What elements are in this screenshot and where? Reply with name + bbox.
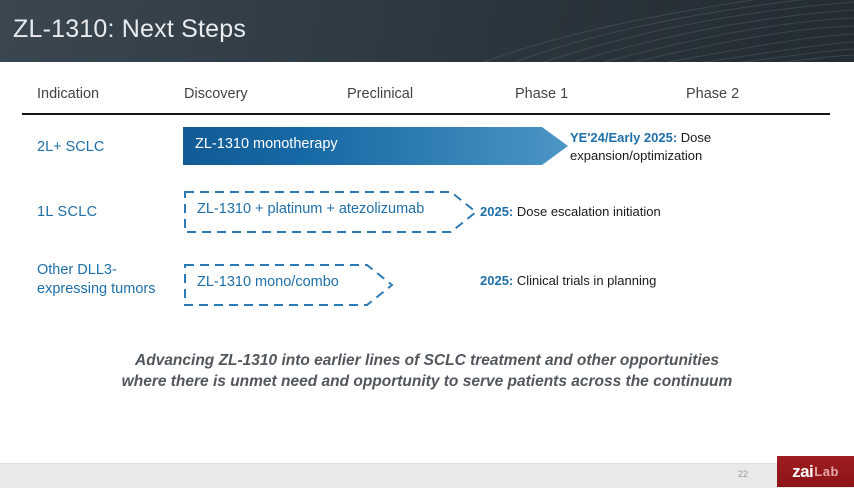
program-bar-label: ZL-1310 mono/combo bbox=[197, 274, 339, 290]
column-header-indication: Indication bbox=[37, 86, 99, 102]
header-decorative-arcs bbox=[424, 0, 854, 62]
column-header-discovery: Discovery bbox=[184, 86, 248, 102]
summary-statement: Advancing ZL-1310 into earlier lines of … bbox=[0, 350, 854, 392]
program-bar-label: ZL-1310 monotherapy bbox=[195, 136, 338, 152]
pipeline-row: 1L SCLC ZL-1310 + platinum + atezolizuma… bbox=[0, 188, 854, 244]
row-milestone: 2025: Clinical trials in planning bbox=[480, 272, 830, 290]
milestone-description: Clinical trials in planning bbox=[513, 273, 656, 288]
program-bar-mono-combo[interactable]: ZL-1310 mono/combo bbox=[183, 263, 395, 307]
logo-text: zaiLab bbox=[777, 456, 854, 487]
milestone-description: Dose escalation initiation bbox=[513, 204, 660, 219]
footer-strip bbox=[0, 463, 854, 488]
summary-line-1: Advancing ZL-1310 into earlier lines of … bbox=[45, 350, 809, 371]
row-indication-label: 1L SCLC bbox=[37, 203, 97, 222]
milestone-timing: 2025: bbox=[480, 273, 513, 288]
column-header-phase-1: Phase 1 bbox=[515, 86, 568, 102]
program-bar-monotherapy[interactable]: ZL-1310 monotherapy bbox=[183, 127, 568, 165]
logo-primary-text: zai bbox=[792, 462, 813, 482]
column-header-phase-2: Phase 2 bbox=[686, 86, 739, 102]
pipeline-row: Other DLL3- expressing tumors ZL-1310 mo… bbox=[0, 255, 854, 317]
zai-lab-logo: zaiLab bbox=[777, 456, 854, 487]
row-milestone: YE'24/Early 2025: Dose expansion/optimiz… bbox=[570, 129, 800, 165]
pipeline-row: 2L+ SCLC ZL-1310 monotherapy YE'24/Early… bbox=[0, 122, 854, 178]
summary-line-2: where there is unmet need and opportunit… bbox=[45, 371, 809, 392]
slide-header: ZL-1310: Next Steps bbox=[0, 0, 854, 62]
milestone-timing: 2025: bbox=[480, 204, 513, 219]
row-milestone: 2025: Dose escalation initiation bbox=[480, 203, 830, 221]
page-title: ZL-1310: Next Steps bbox=[13, 15, 246, 44]
program-bar-label: ZL-1310 + platinum + atezolizumab bbox=[197, 201, 424, 217]
row-indication-label: Other DLL3- expressing tumors bbox=[37, 261, 155, 299]
logo-secondary-text: Lab bbox=[814, 464, 839, 479]
header-divider-rule bbox=[22, 113, 830, 115]
column-header-preclinical: Preclinical bbox=[347, 86, 413, 102]
row-indication-label: 2L+ SCLC bbox=[37, 138, 104, 157]
phase-column-headers: Indication Discovery Preclinical Phase 1… bbox=[0, 86, 854, 114]
page-number: 22 bbox=[738, 469, 748, 479]
program-bar-platinum-atezolizumab[interactable]: ZL-1310 + platinum + atezolizumab bbox=[183, 190, 479, 234]
milestone-timing: YE'24/Early 2025: bbox=[570, 130, 677, 145]
